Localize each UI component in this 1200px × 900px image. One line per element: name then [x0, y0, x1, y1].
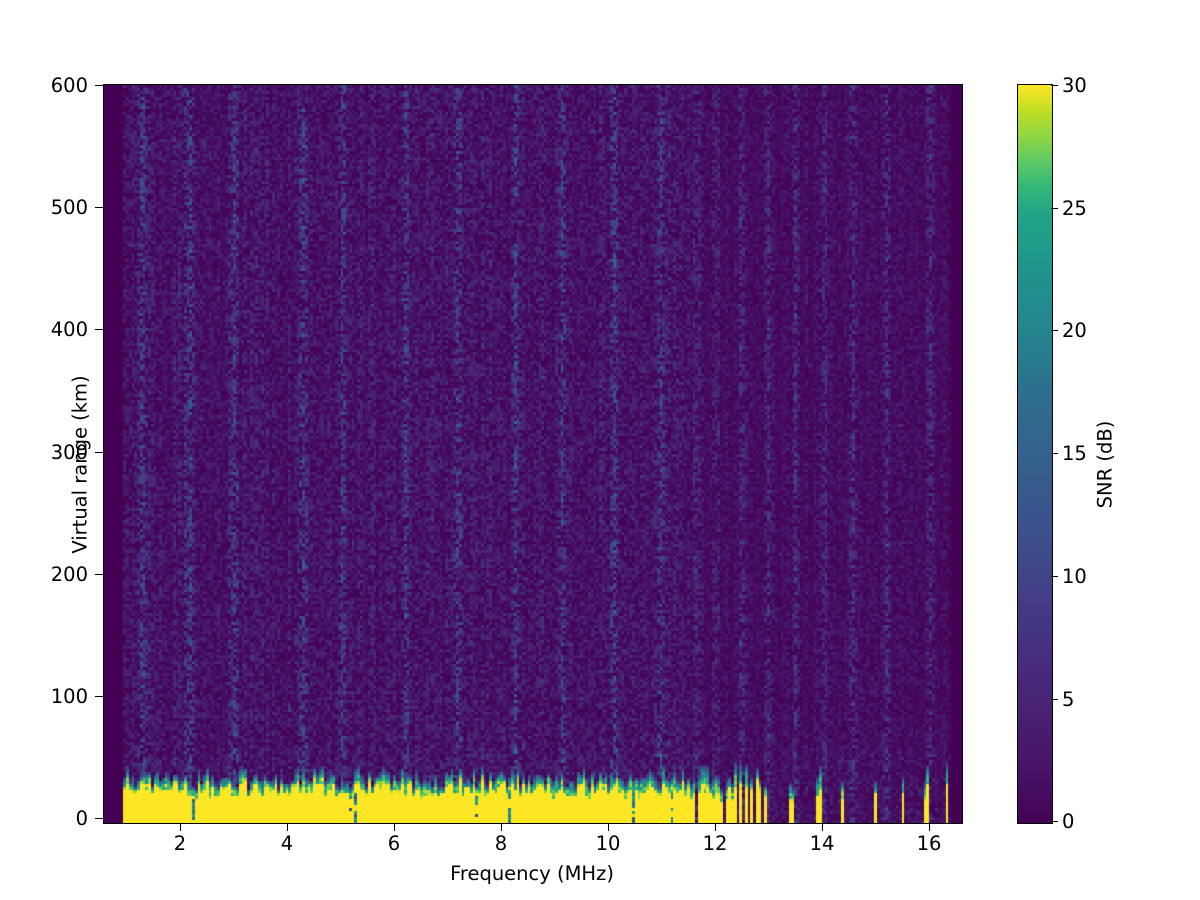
y-tick-500	[95, 207, 103, 208]
x-tick-2	[180, 823, 181, 831]
y-ticklabel-100: 100	[51, 687, 88, 707]
x-tick-4	[287, 823, 288, 831]
c-ticklabel-30: 30	[1062, 76, 1087, 96]
y-axis-title: Virtual range (km)	[69, 330, 92, 600]
colorbar-title: SNR (dB)	[1094, 360, 1117, 570]
c-tick-20	[1051, 330, 1058, 331]
c-ticklabel-0: 0	[1062, 812, 1074, 832]
x-tick-10	[608, 823, 609, 831]
c-tick-15	[1051, 453, 1058, 454]
c-tick-0	[1051, 821, 1058, 822]
y-tick-600	[95, 85, 103, 86]
c-tick-25	[1051, 208, 1058, 209]
ionogram-figure: IRF Kiruna Ionosonde KI167 2026-04-11 07…	[0, 0, 1200, 900]
snr-colorbar	[1017, 84, 1053, 824]
x-ticklabel-16: 16	[917, 834, 942, 854]
x-ticklabel-10: 10	[596, 834, 621, 854]
x-tick-12	[715, 823, 716, 831]
x-ticklabel-14: 14	[810, 834, 835, 854]
x-tick-6	[394, 823, 395, 831]
c-ticklabel-10: 10	[1062, 567, 1087, 587]
ionogram-plot-area	[103, 84, 963, 824]
x-ticklabel-4: 4	[281, 834, 293, 854]
y-tick-0	[95, 818, 103, 819]
c-tick-5	[1051, 699, 1058, 700]
x-ticklabel-2: 2	[174, 834, 186, 854]
ionogram-heatmap-canvas	[104, 85, 962, 823]
x-ticklabel-8: 8	[495, 834, 507, 854]
c-ticklabel-25: 25	[1062, 199, 1087, 219]
c-ticklabel-5: 5	[1062, 690, 1074, 710]
c-ticklabel-20: 20	[1062, 321, 1087, 341]
y-tick-100	[95, 696, 103, 697]
y-ticklabel-0: 0	[76, 809, 88, 829]
c-ticklabel-15: 15	[1062, 444, 1087, 464]
x-tick-16	[929, 823, 930, 831]
c-tick-10	[1051, 576, 1058, 577]
x-tick-14	[822, 823, 823, 831]
x-ticklabel-6: 6	[388, 834, 400, 854]
y-ticklabel-600: 600	[51, 76, 88, 96]
y-tick-400	[95, 329, 103, 330]
y-tick-200	[95, 574, 103, 575]
y-tick-300	[95, 452, 103, 453]
y-ticklabel-500: 500	[51, 198, 88, 218]
x-tick-8	[501, 823, 502, 831]
x-axis-title: Frequency (MHz)	[103, 862, 961, 885]
c-tick-30	[1051, 85, 1058, 86]
x-ticklabel-12: 12	[703, 834, 728, 854]
